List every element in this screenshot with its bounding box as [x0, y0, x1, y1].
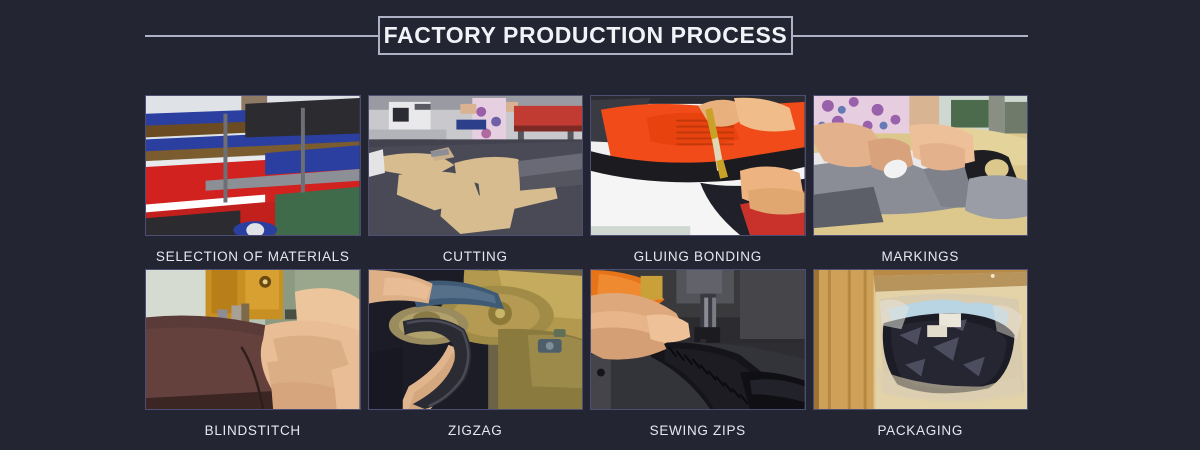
process-step-card[interactable]: SELECTION OF MATERIALS: [145, 95, 361, 264]
packaging-image: [814, 270, 1028, 409]
step-caption: MARKINGS: [881, 249, 959, 264]
step-caption: BLINDSTITCH: [205, 423, 301, 438]
zigzag-image: [369, 270, 583, 409]
markings-image: [814, 96, 1028, 235]
step-caption: SELECTION OF MATERIALS: [156, 249, 350, 264]
process-step-card[interactable]: CUTTING: [368, 95, 584, 264]
page-header: FACTORY PRODUCTION PROCESS: [0, 0, 1200, 72]
step-thumbnail-gluing-bonding[interactable]: [590, 95, 806, 236]
blindstitch-image: [146, 270, 360, 409]
process-step-card[interactable]: ZIGZAG: [368, 269, 584, 438]
process-step-card[interactable]: SEWING ZIPS: [590, 269, 806, 438]
step-caption: SEWING ZIPS: [650, 423, 746, 438]
process-step-card[interactable]: PACKAGING: [813, 269, 1029, 438]
process-step-card[interactable]: GLUING BONDING: [590, 95, 806, 264]
gluing-bonding-image: [591, 96, 805, 235]
step-thumbnail-sewing-zips[interactable]: [590, 269, 806, 410]
selection-of-materials-image: [146, 96, 360, 235]
cutting-image: [369, 96, 583, 235]
step-caption: PACKAGING: [877, 423, 963, 438]
process-steps-grid: SELECTION OF MATERIALS: [145, 95, 1028, 438]
page-title: FACTORY PRODUCTION PROCESS: [384, 22, 788, 49]
step-caption: ZIGZAG: [448, 423, 502, 438]
step-thumbnail-packaging[interactable]: [813, 269, 1029, 410]
step-thumbnail-cutting[interactable]: [368, 95, 584, 236]
step-thumbnail-blindstitch[interactable]: [145, 269, 361, 410]
step-caption: CUTTING: [443, 249, 508, 264]
page-title-box: FACTORY PRODUCTION PROCESS: [378, 16, 793, 55]
process-step-card[interactable]: MARKINGS: [813, 95, 1029, 264]
step-caption: GLUING BONDING: [634, 249, 762, 264]
step-thumbnail-selection-of-materials[interactable]: [145, 95, 361, 236]
process-step-card[interactable]: BLINDSTITCH: [145, 269, 361, 438]
step-thumbnail-markings[interactable]: [813, 95, 1029, 236]
sewing-zips-image: [591, 270, 805, 409]
step-thumbnail-zigzag[interactable]: [368, 269, 584, 410]
